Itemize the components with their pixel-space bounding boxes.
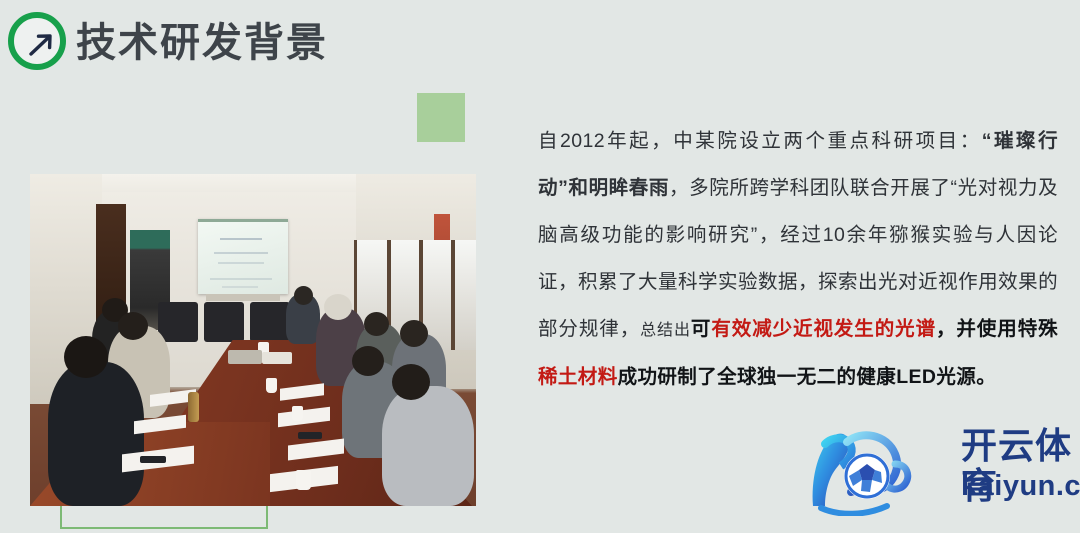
arrow-up-right-icon [8,12,66,70]
photo-empty-chairs [158,302,298,344]
body-seg-11-red: 稀 [538,366,558,388]
photo-paper-cup [296,470,311,490]
body-seg-10-bold: ，并使用特殊 [936,318,1058,340]
body-seg-13-bold: 成功研制了全球独一无二的健康LED光源。 [618,366,997,388]
body-seg-12-red: 土材料 [558,366,618,388]
photo-attendee-head [64,336,108,378]
kaiyun-watermark: 开云体育 kaiyun.com [795,420,1075,520]
body-seg-1: 自2012年起，中某院设立两个重点科研项目： [538,130,982,152]
body-seg-8-bold: 可 [691,318,711,340]
photo-attendee-head [324,294,352,320]
meeting-room-photo [30,174,476,506]
photo-attendee [48,362,144,506]
decor-green-square [417,93,465,142]
photo-attendee-head [352,346,384,376]
page-title: 技术研发背景 [76,17,328,69]
slide-root: 技术研发背景 [0,0,1080,533]
photo-attendee-head [118,312,148,340]
photo-paper-cup [266,378,277,393]
slide-header: 技术研发背景 [0,0,1080,92]
body-seg-3-bold: 和明眸春雨 [568,177,669,199]
body-text: 自2012年起，中某院设立两个重点科研项目：“璀璨行动”和明眸春雨，多院所跨学科… [538,118,1058,401]
decor-green-frame [60,503,268,529]
photo-screen-base [206,294,280,301]
photo-projection-screen [198,219,288,294]
photo-paper-cup [292,406,303,421]
watermark-brand-en: kaiyun.com [961,470,1080,502]
photo-phone [298,432,322,439]
body-paragraph: 自2012年起，中某院设立两个重点科研项目：“璀璨行动”和明眸春雨，多院所跨学科… [538,118,1058,401]
photo-attendee [382,386,474,506]
photo-projector-box [262,352,292,364]
photo-attendee-head [364,312,389,336]
photo-attendee-head [400,320,428,347]
photo-attendee-head [294,286,313,305]
photo-thermos [188,392,199,422]
photo-attendee-head [392,364,430,400]
body-seg-7-small: 总结出 [640,322,691,339]
body-seg-9-red: 有效减少近视发生的光谱 [711,318,936,340]
kaiyun-k-soccer-logo [795,420,955,516]
photo-projector-box [228,350,262,364]
photo-phone [140,456,166,463]
